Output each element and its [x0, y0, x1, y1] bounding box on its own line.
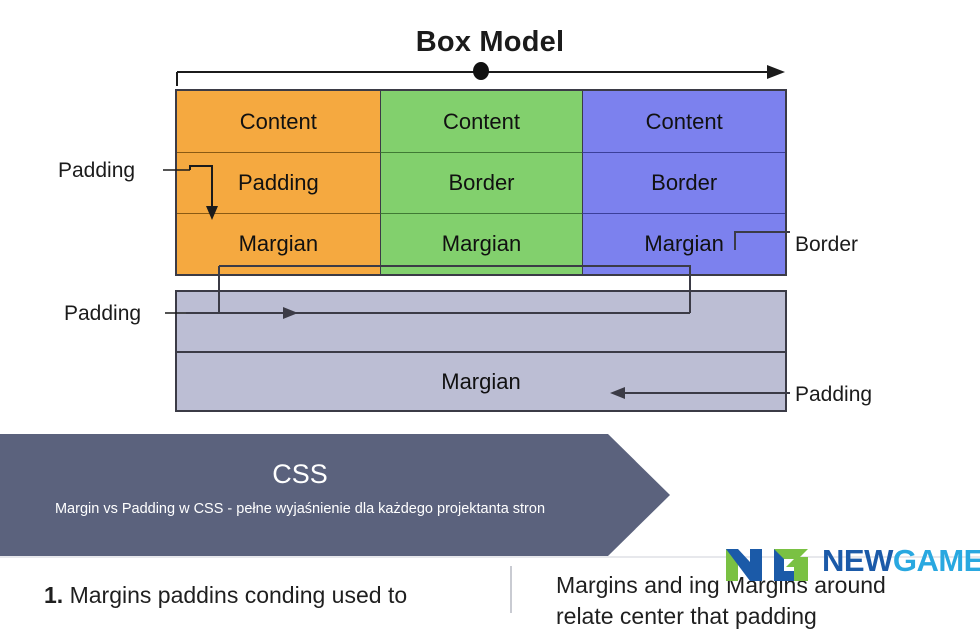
margin-box: Margian [175, 290, 787, 412]
list-item-number: 1. [44, 582, 63, 608]
label-border-right: Border [795, 233, 858, 257]
margin-box-label: Margian [441, 369, 520, 395]
css-banner [0, 434, 700, 556]
cell-orange-padding: Padding [177, 152, 380, 213]
diagram-canvas: Box Model Content Content Content Paddin… [0, 0, 980, 613]
bottom-list-item-1: 1. Margins paddins conding used to [44, 582, 407, 609]
total-width-arrow [175, 62, 787, 88]
logo-wordmark: NEWGAME [822, 543, 980, 579]
margin-box-upper [177, 292, 785, 353]
cell-green-border: Border [380, 152, 583, 213]
cell-label: Margian [644, 231, 723, 257]
cell-blue-content: Content [582, 91, 785, 152]
list-item-text: Margins paddins conding used to [70, 582, 408, 608]
cell-label: Padding [238, 170, 319, 196]
cell-blue-border: Border [582, 152, 785, 213]
margin-box-lower: Margian [177, 353, 785, 410]
ng-monogram-icon [722, 541, 818, 585]
cell-green-margin: Margian [380, 213, 583, 274]
bottom-column-divider [510, 566, 512, 613]
cell-label: Content [240, 109, 317, 135]
label-padding-right: Padding [795, 383, 872, 407]
banner-title: CSS [0, 459, 600, 490]
logo-word-game: GAME [893, 543, 980, 578]
bottom-text-right-line2: relate center that padding [556, 601, 886, 632]
banner-chevron-shape [0, 434, 700, 556]
box-model-grid: Content Content Content Padding Border B… [175, 89, 787, 276]
newgame-logo[interactable]: NEWGAME [722, 541, 958, 585]
cell-label: Content [646, 109, 723, 135]
cell-label: Content [443, 109, 520, 135]
cell-orange-content: Content [177, 91, 380, 152]
cell-blue-margin: Margian [582, 213, 785, 274]
cell-green-content: Content [380, 91, 583, 152]
cell-label: Margian [442, 231, 521, 257]
cell-label: Margian [239, 231, 318, 257]
cell-label: Border [651, 170, 717, 196]
logo-word-new: NEW [822, 543, 893, 578]
cell-label: Border [448, 170, 514, 196]
cell-orange-margin: Margian [177, 213, 380, 274]
label-padding-left-bottom: Padding [64, 302, 141, 326]
label-padding-left-top: Padding [58, 159, 135, 183]
page-title: Box Model [0, 26, 980, 59]
banner-subtitle: Margin vs Padding w CSS - pełne wyjaśnie… [0, 501, 600, 517]
